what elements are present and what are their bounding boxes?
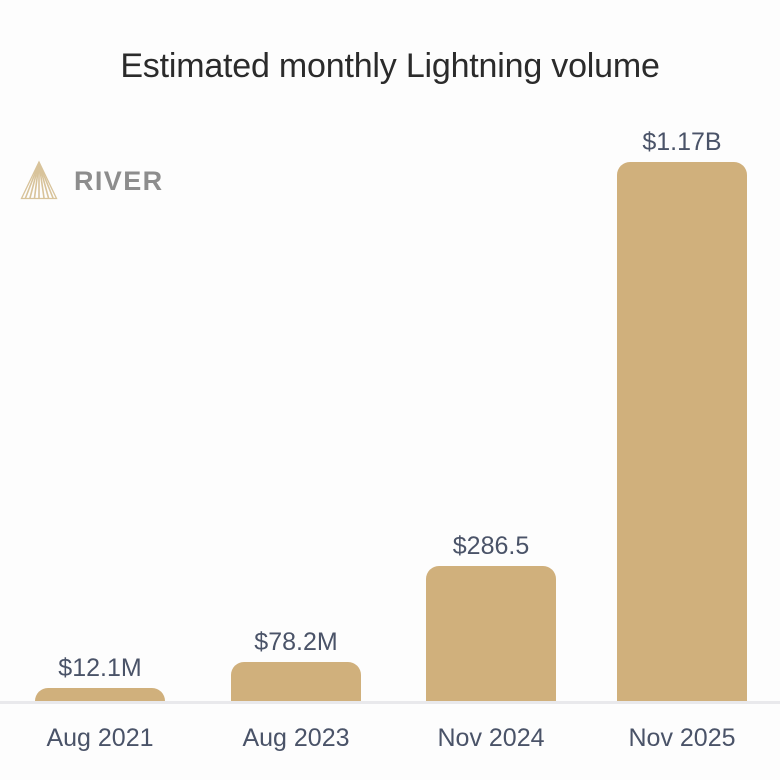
bar-value-label: $12.1M bbox=[58, 653, 141, 683]
bar[interactable] bbox=[35, 688, 165, 701]
x-tick-label: Nov 2024 bbox=[426, 722, 556, 754]
plot-area: $12.1M $78.2M $286.5 $1.17B Aug 2021 Aug… bbox=[0, 0, 780, 780]
bar[interactable] bbox=[426, 566, 556, 701]
x-tick-label: Aug 2021 bbox=[35, 722, 165, 754]
x-tick-label: Aug 2023 bbox=[231, 722, 361, 754]
x-tick-label: Nov 2025 bbox=[617, 722, 747, 754]
x-axis-baseline bbox=[0, 701, 780, 704]
bar-group: $286.5 bbox=[426, 101, 556, 701]
bar-group: $78.2M bbox=[231, 101, 361, 701]
bar[interactable] bbox=[617, 162, 747, 701]
bar-group: $12.1M bbox=[35, 101, 165, 701]
bar[interactable] bbox=[231, 662, 361, 701]
chart-figure: Estimated monthly Lightning volume RIVER… bbox=[0, 0, 780, 780]
bar-value-label: $1.17B bbox=[642, 127, 721, 157]
bar-group: $1.17B bbox=[617, 101, 747, 701]
bar-value-label: $286.5 bbox=[453, 531, 529, 561]
bar-value-label: $78.2M bbox=[254, 627, 337, 657]
